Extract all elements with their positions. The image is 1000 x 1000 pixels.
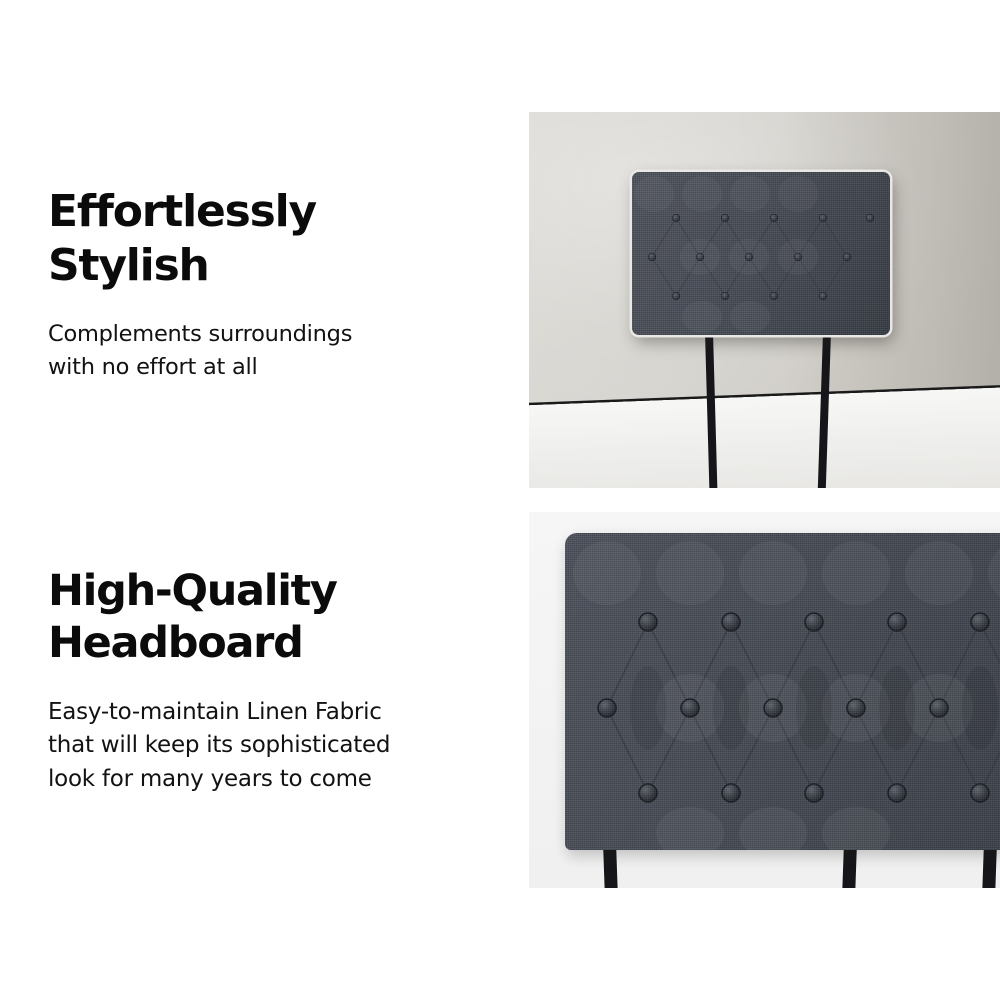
headline-high-quality-headboard: High-Quality Headboard xyxy=(48,565,508,670)
subcopy-high-quality-headboard: Easy-to-maintain Linen Fabric that will … xyxy=(48,696,508,797)
linen-texture-closeup xyxy=(565,533,1000,850)
tufting-pattern-top xyxy=(632,172,890,335)
headboard-panel xyxy=(632,172,890,335)
headboard-closeup-panel xyxy=(565,533,1000,850)
text-column: Effortlessly Stylish Complements surroun… xyxy=(0,0,520,1000)
linen-texture-top xyxy=(632,172,890,335)
subcopy-effortlessly-stylish: Complements surroundings with no effort … xyxy=(48,318,498,384)
photo-headboard-full-view xyxy=(529,112,1000,488)
tufting-pattern-closeup xyxy=(565,533,1000,850)
photo-headboard-closeup xyxy=(529,512,1000,888)
feature-block-effortlessly-stylish: Effortlessly Stylish Complements surroun… xyxy=(48,185,498,384)
headline-effortlessly-stylish: Effortlessly Stylish xyxy=(48,185,498,292)
feature-block-high-quality-headboard: High-Quality Headboard Easy-to-maintain … xyxy=(48,565,508,797)
marketing-image-canvas: Effortlessly Stylish Complements surroun… xyxy=(0,0,1000,1000)
